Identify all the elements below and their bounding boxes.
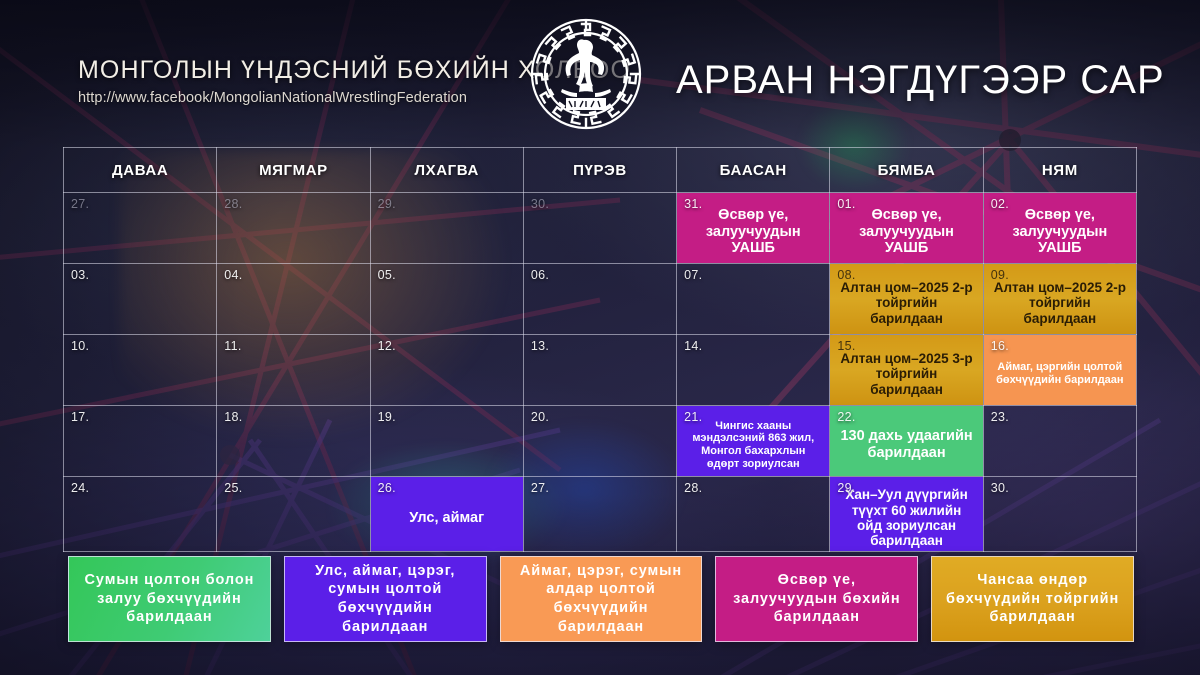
calendar-day-cell[interactable]: 28. [677, 477, 830, 552]
calendar-day-number: 06. [531, 268, 549, 282]
calendar-day-cell[interactable]: 27. [523, 477, 676, 552]
calendar-day-cell[interactable]: Аймаг, цэргийн цолтой бөхчүүдийн барилда… [983, 335, 1136, 406]
calendar-day-number: 05. [378, 268, 396, 282]
calendar-day-cell[interactable]: 29. [370, 193, 523, 264]
calendar-day-cell[interactable]: Чингис хааны мэндэлсэний 863 жил, Монгол… [677, 406, 830, 477]
legend-item[interactable]: Чансаа өндөр бөхчүүдийн тойргийн барилда… [931, 556, 1134, 642]
calendar-day-cell[interactable]: 14. [677, 335, 830, 406]
calendar-day-number: 20. [531, 410, 549, 424]
calendar-event-label: Алтан цом–2025 2-р тойргийн барилдаан [992, 280, 1128, 326]
calendar-week-row: 10.11.12.13.14.Алтан цом–2025 3-р тойрги… [64, 335, 1137, 406]
legend-item[interactable]: Өсвөр үе, залуучуудын бөхийн барилдаан [715, 556, 918, 642]
legend-item-label: Аймаг, цэрэг, сумын алдар цолтой бөхчүүд… [509, 562, 694, 636]
legend-item[interactable]: Улс, аймаг, цэрэг, сумын цолтой бөхчүүди… [284, 556, 487, 642]
weekday-header-thursday: ПҮРЭВ [523, 148, 676, 193]
calendar-event-label: Улс, аймаг [379, 510, 515, 527]
calendar-week-row: 03.04.05.06.07.Алтан цом–2025 2-р тойрги… [64, 264, 1137, 335]
calendar-day-number: 17. [71, 410, 89, 424]
calendar-day-cell[interactable]: 24. [64, 477, 217, 552]
calendar-day-number: 21. [684, 410, 702, 424]
calendar-day-cell[interactable]: 10. [64, 335, 217, 406]
legend-item-label: Улс, аймаг, цэрэг, сумын цолтой бөхчүүди… [293, 562, 478, 636]
calendar-day-number: 02. [991, 197, 1009, 211]
calendar-day-cell[interactable]: 130 дахь удаагийн барилдаан22. [830, 406, 983, 477]
calendar-day-cell[interactable]: 30. [983, 477, 1136, 552]
calendar-day-cell[interactable]: Хан–Уул дүүргийн түүхт 60 жилийн ойд зор… [830, 477, 983, 552]
calendar-day-cell[interactable]: 28. [217, 193, 370, 264]
calendar-day-cell[interactable]: 19. [370, 406, 523, 477]
legend-item-label: Сумын цолтон болон залуу бөхчүүдийн бари… [77, 571, 262, 627]
calendar-day-number: 22. [837, 410, 855, 424]
calendar-day-cell[interactable]: 17. [64, 406, 217, 477]
calendar-day-number: 15. [837, 339, 855, 353]
weekday-header-row: ДАВАА МЯГМАР ЛХАГВА ПҮРЭВ БААСАН БЯМБА Н… [64, 148, 1137, 193]
calendar-poster: МОНГОЛЫН ҮНДЭСНИЙ БӨХИЙН ХОЛБОО http://w… [0, 0, 1200, 675]
calendar-day-cell[interactable]: 20. [523, 406, 676, 477]
calendar-day-cell[interactable]: 03. [64, 264, 217, 335]
calendar-day-number: 08. [837, 268, 855, 282]
calendar-event-label: Чингис хааны мэндэлсэний 863 жил, Монгол… [685, 420, 821, 470]
calendar-event-label: Өсвөр үе, залуучуудын УАШБ [838, 207, 974, 257]
weekday-header-friday: БААСАН [677, 148, 830, 193]
calendar-day-number: 11. [224, 339, 241, 353]
month-title: АРВАН НЭГДҮГЭЭР САР [676, 58, 1165, 103]
calendar-day-cell[interactable]: 23. [983, 406, 1136, 477]
calendar-day-number: 24. [71, 481, 89, 495]
calendar-day-number: 26. [378, 481, 396, 495]
calendar-day-cell[interactable]: Алтан цом–2025 3-р тойргийн барилдаан15. [830, 335, 983, 406]
poster-header: МОНГОЛЫН ҮНДЭСНИЙ БӨХИЙН ХОЛБОО http://w… [0, 0, 1200, 140]
calendar-week-row: 24.25.Улс, аймаг26.27.28.Хан–Уул дүүргий… [64, 477, 1137, 552]
weekday-header-sunday: НЯМ [983, 148, 1136, 193]
calendar-day-number: 19. [378, 410, 396, 424]
calendar-day-number: 23. [991, 410, 1009, 424]
calendar-event-label: Хан–Уул дүүргийн түүхт 60 жилийн ойд зор… [838, 487, 974, 549]
calendar-event-label: 130 дахь удаагийн барилдаан [838, 428, 974, 461]
calendar-event-label: Алтан цом–2025 2-р тойргийн барилдаан [838, 280, 974, 326]
federation-url[interactable]: http://www.facebook/MongolianNationalWre… [78, 90, 467, 106]
calendar-body: 27.28.29.30.Өсвөр үе, залуучуудын УАШБ31… [64, 193, 1137, 552]
legend-item[interactable]: Аймаг, цэрэг, сумын алдар цолтой бөхчүүд… [500, 556, 703, 642]
calendar-day-cell[interactable]: 25. [217, 477, 370, 552]
calendar-day-number: 18. [224, 410, 242, 424]
calendar-week-row: 17.18.19.20.Чингис хааны мэндэлсэний 863… [64, 406, 1137, 477]
calendar-day-number: 25. [224, 481, 242, 495]
calendar-event-label: Өсвөр үе, залуучуудын УАШБ [992, 207, 1128, 257]
calendar-day-number: 03. [71, 268, 89, 282]
calendar-day-number: 09. [991, 268, 1009, 282]
calendar-day-cell[interactable]: Алтан цом–2025 2-р тойргийн барилдаан09. [983, 264, 1136, 335]
calendar-day-number: 27. [71, 197, 89, 211]
weekday-header-wednesday: ЛХАГВА [370, 148, 523, 193]
calendar-day-number: 30. [531, 197, 549, 211]
calendar-day-cell[interactable]: Өсвөр үе, залуучуудын УАШБ31. [677, 193, 830, 264]
calendar-day-number: 10. [71, 339, 89, 353]
calendar-day-cell[interactable]: 27. [64, 193, 217, 264]
calendar-day-number: 13. [531, 339, 549, 353]
month-calendar: ДАВАА МЯГМАР ЛХАГВА ПҮРЭВ БААСАН БЯМБА Н… [63, 147, 1137, 552]
legend-row: Сумын цолтон болон залуу бөхчүүдийн бари… [68, 556, 1134, 642]
calendar-day-cell[interactable]: 07. [677, 264, 830, 335]
calendar-day-number: 31. [684, 197, 702, 211]
calendar-day-number: 28. [224, 197, 242, 211]
calendar-day-cell[interactable]: Улс, аймаг26. [370, 477, 523, 552]
calendar-event-label: Аймаг, цэргийн цолтой бөхчүүдийн барилда… [992, 361, 1128, 386]
calendar-day-cell[interactable]: 06. [523, 264, 676, 335]
calendar-day-number: 29. [378, 197, 396, 211]
calendar-day-number: 16. [991, 339, 1009, 353]
calendar-day-cell[interactable]: 11. [217, 335, 370, 406]
calendar-day-cell[interactable]: 04. [217, 264, 370, 335]
calendar-day-cell[interactable]: Өсвөр үе, залуучуудын УАШБ02. [983, 193, 1136, 264]
calendar-day-cell[interactable]: 05. [370, 264, 523, 335]
calendar-day-number: 29. [837, 481, 855, 495]
calendar-day-cell[interactable]: Өсвөр үе, залуучуудын УАШБ01. [830, 193, 983, 264]
weekday-header-saturday: БЯМБА [830, 148, 983, 193]
weekday-header-monday: ДАВАА [64, 148, 217, 193]
calendar-day-number: 28. [684, 481, 702, 495]
weekday-header-tuesday: МЯГМАР [217, 148, 370, 193]
calendar-day-number: 14. [684, 339, 702, 353]
calendar-day-number: 30. [991, 481, 1009, 495]
calendar-day-cell[interactable]: Алтан цом–2025 2-р тойргийн барилдаан08. [830, 264, 983, 335]
calendar-day-cell[interactable]: 18. [217, 406, 370, 477]
legend-item-label: Чансаа өндөр бөхчүүдийн тойргийн барилда… [940, 571, 1125, 627]
calendar-day-cell[interactable]: 12. [370, 335, 523, 406]
calendar-day-number: 01. [837, 197, 855, 211]
wrestling-federation-emblem-icon [528, 16, 644, 132]
calendar-day-cell[interactable]: 13. [523, 335, 676, 406]
calendar-week-row: 27.28.29.30.Өсвөр үе, залуучуудын УАШБ31… [64, 193, 1137, 264]
legend-item-label: Өсвөр үе, залуучуудын бөхийн барилдаан [724, 571, 909, 627]
calendar-day-number: 07. [684, 268, 702, 282]
calendar-day-number: 12. [378, 339, 396, 353]
calendar-event-label: Өсвөр үе, залуучуудын УАШБ [685, 207, 821, 257]
legend-item[interactable]: Сумын цолтон болон залуу бөхчүүдийн бари… [68, 556, 271, 642]
calendar-day-number: 04. [224, 268, 242, 282]
calendar-event-label: Алтан цом–2025 3-р тойргийн барилдаан [838, 351, 974, 397]
calendar-day-cell[interactable]: 30. [523, 193, 676, 264]
calendar-day-number: 27. [531, 481, 549, 495]
